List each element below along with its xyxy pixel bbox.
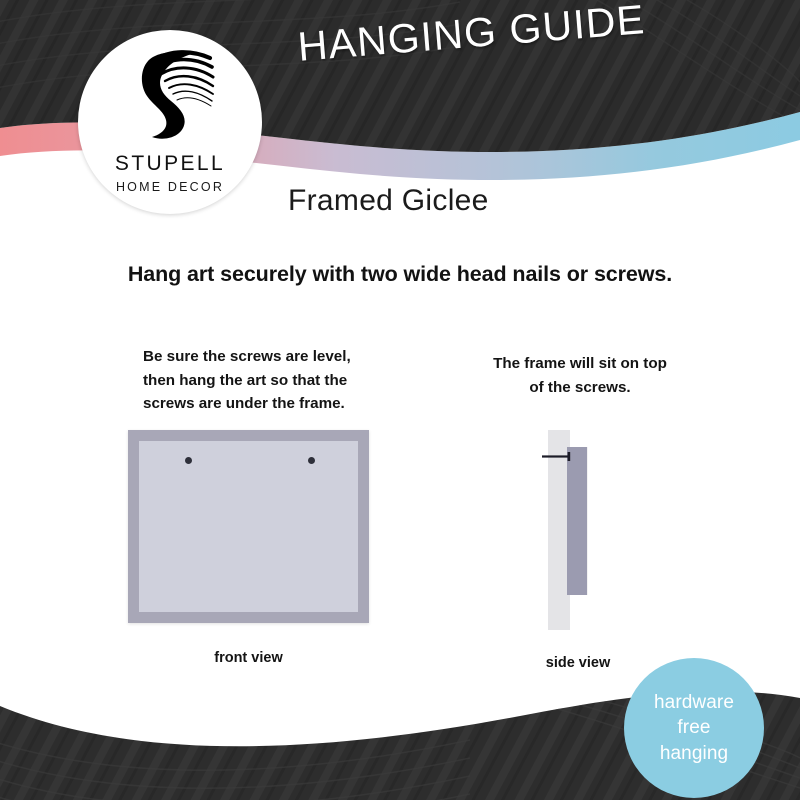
stupell-logo-badge: STUPELL HOME DECOR (78, 30, 262, 214)
product-title: Framed Giclee (288, 184, 489, 218)
hardware-free-hanging-badge: hardware free hanging (624, 658, 764, 798)
side-view-caption: The frame will sit on top of the screws. (470, 352, 690, 399)
nail-icon (542, 452, 576, 461)
front-view-caption: Be sure the screws are level, then hang … (143, 345, 393, 416)
badge-line-3: hanging (660, 742, 728, 765)
front-view-caption-line-2: then hang the art so that the (143, 369, 393, 393)
front-view-frame-mat (139, 441, 358, 612)
front-view-diagram (128, 430, 369, 623)
logo-subwordmark: HOME DECOR (78, 180, 262, 194)
screw-dot-left (185, 457, 192, 464)
headline-instruction: Hang art securely with two wide head nai… (0, 262, 800, 287)
hanging-guide-page: STUPELL HOME DECOR HANGING GUIDE Framed … (0, 0, 800, 800)
logo-wordmark: STUPELL (78, 152, 262, 176)
badge-line-2: free (677, 716, 710, 739)
screw-dot-right (308, 457, 315, 464)
badge-line-1: hardware (654, 691, 734, 714)
front-view-caption-line-1: Be sure the screws are level, (143, 345, 393, 369)
side-view-caption-line-2: of the screws. (470, 376, 690, 400)
stupell-swoosh-logo-icon (118, 48, 222, 144)
side-view-diagram (548, 430, 608, 630)
front-view-caption-line-3: screws are under the frame. (143, 392, 393, 416)
side-view-frame-slab (567, 447, 587, 595)
side-view-caption-line-1: The frame will sit on top (470, 352, 690, 376)
